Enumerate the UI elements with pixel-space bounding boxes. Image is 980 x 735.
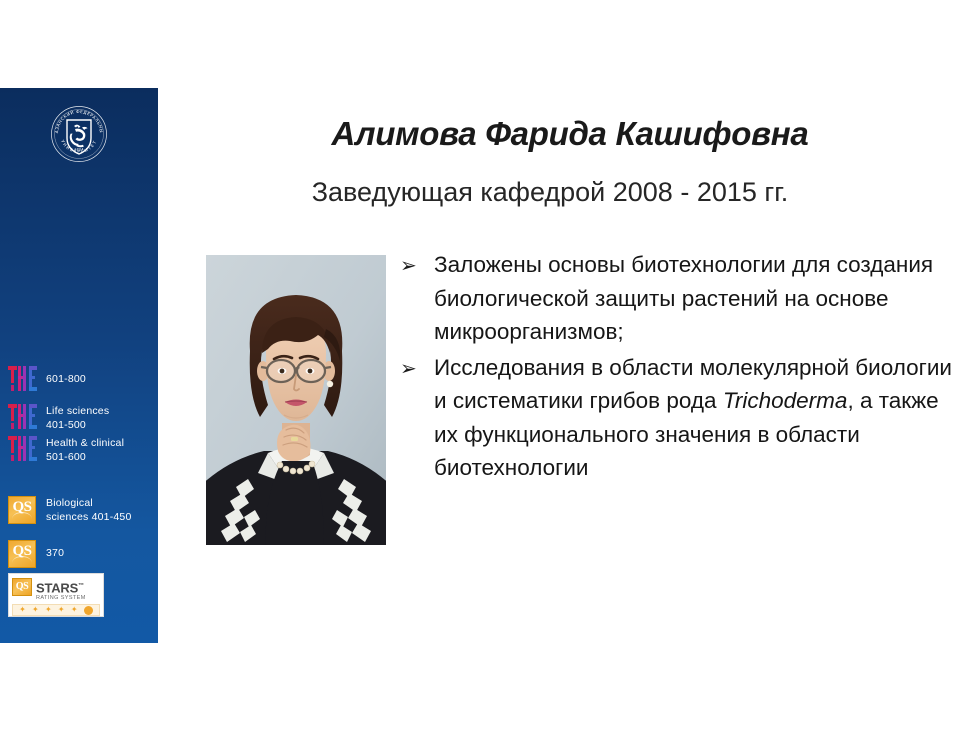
qs-swoosh-decoration [12, 556, 32, 563]
qs-logo-icon: QS [8, 540, 38, 568]
text-segment: Заложены основы биотехнологии для создан… [434, 252, 933, 344]
qs-stars-word-text: STARS [36, 580, 78, 595]
list-item: ➢ Заложены основы биотехнологии для созд… [398, 248, 958, 349]
star-icon-filled: ✦ [84, 606, 93, 615]
qs-stars-rating-strip: ✦ ✦ ✦ ✦ ✦ ✦ [12, 604, 100, 616]
text-segment-italic-species: Trichoderma [723, 388, 848, 413]
ranking-row: 601-800 [8, 366, 158, 394]
ranking-the-life-sciences: Life sciences 401-500 [8, 404, 158, 436]
ranking-the-overall: 601-800 [8, 366, 158, 398]
star-icon: ✦ [71, 606, 78, 614]
list-item-text: Исследования в области молекулярной биол… [434, 351, 958, 485]
star-icon: ✦ [58, 606, 65, 614]
ranking-qs-overall: QS 370 [8, 540, 158, 572]
page-subtitle: Заведующая кафедрой 2008 - 2015 гг. [190, 176, 910, 208]
university-emblem-icon: КАЗАНСКИЙ ФЕДЕРАЛЬНЫЙ УНИВЕРСИТЕТ 1804 [50, 105, 108, 163]
star-icon: ✦ [32, 606, 39, 614]
qs-logo-icon: QS [8, 496, 38, 524]
list-item: ➢ Исследования в области молекулярной би… [398, 351, 958, 485]
qs-stars-subtitle: RATING SYSTEM [36, 595, 100, 601]
qs-stars-header: QS STARS™ [12, 577, 100, 597]
the-logo-icon [8, 404, 38, 432]
qs-swoosh-decoration [12, 512, 32, 519]
portrait-photo [206, 255, 386, 545]
the-logo-icon [8, 436, 38, 464]
ranking-row: QS Biological sciences 401-450 [8, 496, 158, 524]
ranking-qs-biological-sciences: QS Biological sciences 401-450 [8, 496, 158, 528]
star-icon: ✦ [19, 606, 26, 614]
bullet-list: ➢ Заложены основы биотехнологии для созд… [398, 248, 958, 487]
ranking-label: 370 [46, 540, 64, 560]
ranking-row: Life sciences 401-500 [8, 404, 158, 432]
ranking-row: Health & clinical 501-600 [8, 436, 158, 464]
page-title: Алимова Фарида Кашифовна [190, 115, 950, 153]
qs-stars-badge: QS STARS™ RATING SYSTEM ✦ ✦ ✦ ✦ ✦ ✦ [8, 573, 104, 617]
star-icon: ✦ [45, 606, 52, 614]
left-sidebar-panel: КАЗАНСКИЙ ФЕДЕРАЛЬНЫЙ УНИВЕРСИТЕТ 1804 [0, 88, 158, 643]
arrow-bullet-icon: ➢ [398, 248, 434, 282]
ranking-label: Health & clinical 501-600 [46, 436, 124, 464]
ranking-the-health-clinical: Health & clinical 501-600 [8, 436, 158, 468]
ranking-label: Biological sciences 401-450 [46, 496, 132, 524]
qs-stars-wordmark: STARS™ [36, 579, 84, 595]
qs-stars-mark: QS [12, 578, 32, 596]
ranking-label: 601-800 [46, 366, 86, 386]
arrow-bullet-icon: ➢ [398, 351, 434, 385]
svg-text:1804: 1804 [74, 147, 84, 151]
ranking-row: QS 370 [8, 540, 158, 568]
list-item-text: Заложены основы биотехнологии для создан… [434, 248, 958, 349]
presentation-slide: КАЗАНСКИЙ ФЕДЕРАЛЬНЫЙ УНИВЕРСИТЕТ 1804 [0, 0, 980, 735]
the-logo-icon [8, 366, 38, 394]
ranking-label: Life sciences 401-500 [46, 404, 109, 432]
trademark-symbol: ™ [78, 583, 84, 589]
